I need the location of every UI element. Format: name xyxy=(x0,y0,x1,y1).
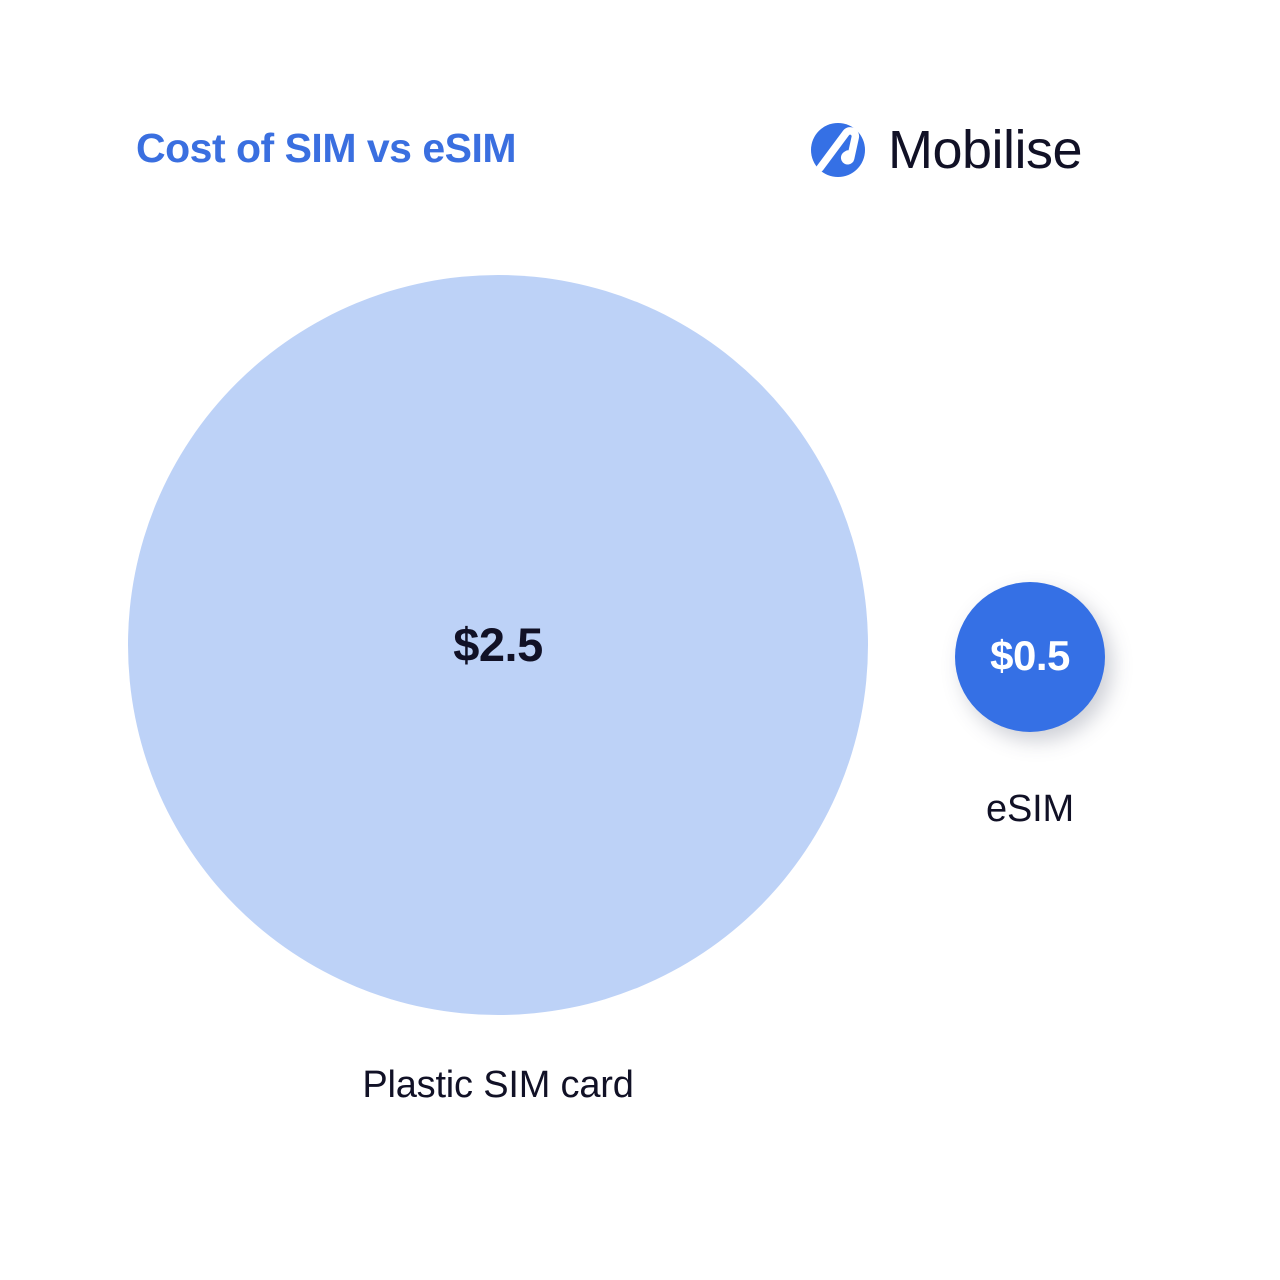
bubble-value-esim: $0.5 xyxy=(990,632,1070,680)
mobilise-logo-icon xyxy=(810,122,866,178)
page-title: Cost of SIM vs eSIM xyxy=(136,126,516,171)
brand-name: Mobilise xyxy=(888,123,1082,177)
bubble-label-plastic-sim-card: Plastic SIM card xyxy=(128,1064,868,1107)
bubble-value-plastic-sim-card: $2.5 xyxy=(453,617,542,672)
bubble-plastic-sim-card: $2.5 xyxy=(128,275,868,1015)
bubble-label-esim: eSIM xyxy=(930,788,1130,831)
brand-logo: Mobilise xyxy=(810,120,1082,180)
bubble-esim: $0.5 xyxy=(955,582,1105,732)
